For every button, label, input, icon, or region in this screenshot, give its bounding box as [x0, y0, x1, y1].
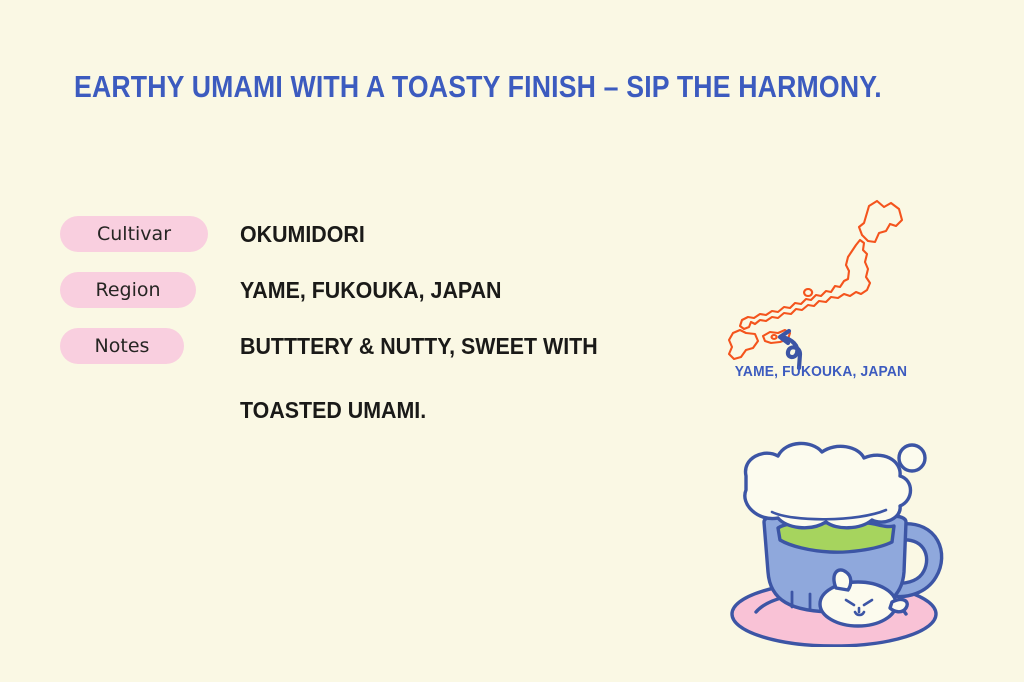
spec-label-notes: Notes [60, 328, 184, 364]
map-block: YAME, FUKOUKA, JAPAN [716, 193, 926, 393]
spec-row-region: Region YAME, FUKOUKA, JAPAN [60, 269, 700, 325]
matcha-cup-illustration [706, 432, 986, 647]
spec-value-notes: BUTTTERY & NUTTY, SWEET WITH [240, 331, 598, 361]
spec-list: Cultivar OKUMIDORI Region YAME, FUKOUKA,… [60, 213, 700, 381]
spec-label-region: Region [60, 272, 196, 308]
tea-spec-card: EARTHY UMAMI WITH A TOASTY FINISH – SIP … [0, 0, 1024, 682]
foam-bubble [899, 445, 925, 471]
spec-row-notes: Notes BUTTTERY & NUTTY, SWEET WITH [60, 325, 700, 381]
spec-row-cultivar: Cultivar OKUMIDORI [60, 213, 700, 269]
spec-value-region: YAME, FUKOUKA, JAPAN [240, 275, 501, 305]
matcha-latte-cup-icon [706, 432, 986, 647]
map-caption: YAME, FUKOUKA, JAPAN [724, 363, 917, 380]
foam-cloud [745, 443, 911, 527]
spec-value-cultivar: OKUMIDORI [240, 219, 365, 249]
spec-label-cultivar: Cultivar [60, 216, 208, 252]
page-title: EARTHY UMAMI WITH A TOASTY FINISH – SIP … [74, 70, 882, 104]
spec-value-notes-continued: TOASTED UMAMI. [240, 395, 426, 425]
